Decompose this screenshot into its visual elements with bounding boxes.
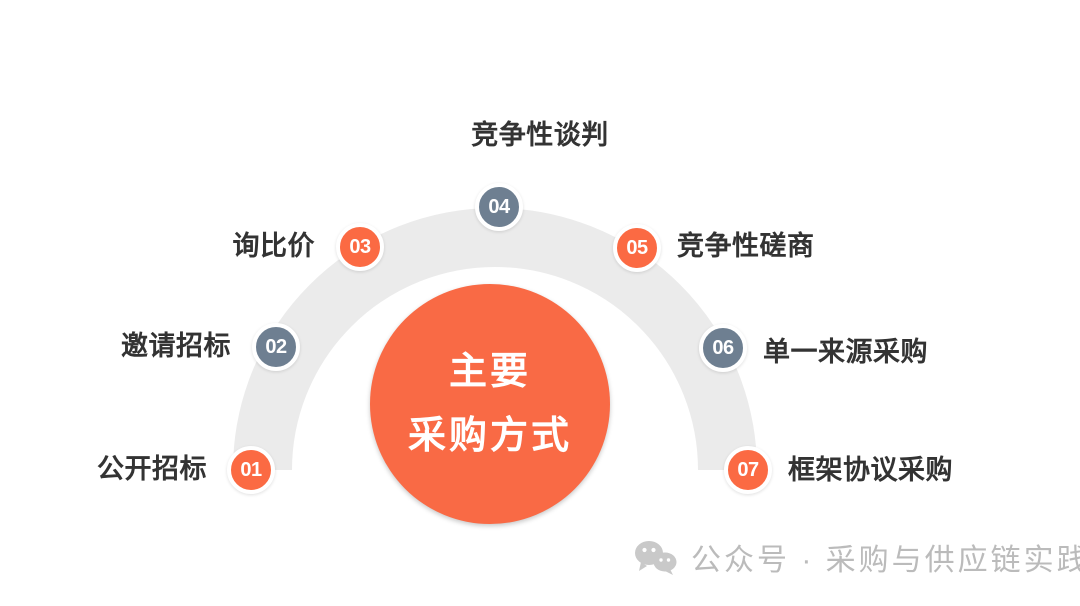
step-label-04: 竞争性谈判 <box>0 113 1080 152</box>
step-badge-06[interactable]: 06 <box>699 324 747 372</box>
wechat-icon <box>634 539 678 575</box>
hub-title-line-2: 采购方式 <box>408 417 572 455</box>
step-label-05: 竞争性磋商 <box>677 224 815 263</box>
step-badge-05[interactable]: 05 <box>613 224 661 272</box>
step-label-06: 单一来源采购 <box>763 330 928 369</box>
step-label-01: 公开招标 <box>97 447 207 486</box>
step-label-02: 邀请招标 <box>121 324 231 363</box>
step-label-07: 框架协议采购 <box>788 448 953 487</box>
step-badge-02[interactable]: 02 <box>252 323 300 371</box>
watermark-text: 公众号 · 采购与供应链实践 <box>691 535 1080 579</box>
slide-canvas: 主要 采购方式 公开招标 01 邀请招标 02 询比价 03 竞争性谈判 04 … <box>0 0 1080 606</box>
watermark: 公众号 · 采购与供应链实践 <box>634 535 1080 579</box>
step-badge-04[interactable]: 04 <box>475 183 523 231</box>
step-badge-03[interactable]: 03 <box>336 223 384 271</box>
center-hub: 主要 采购方式 <box>370 284 610 524</box>
hub-title-line-1: 主要 <box>449 353 531 391</box>
step-badge-07[interactable]: 07 <box>724 446 772 494</box>
step-badge-01[interactable]: 01 <box>227 446 275 494</box>
step-label-03: 询比价 <box>233 224 316 263</box>
